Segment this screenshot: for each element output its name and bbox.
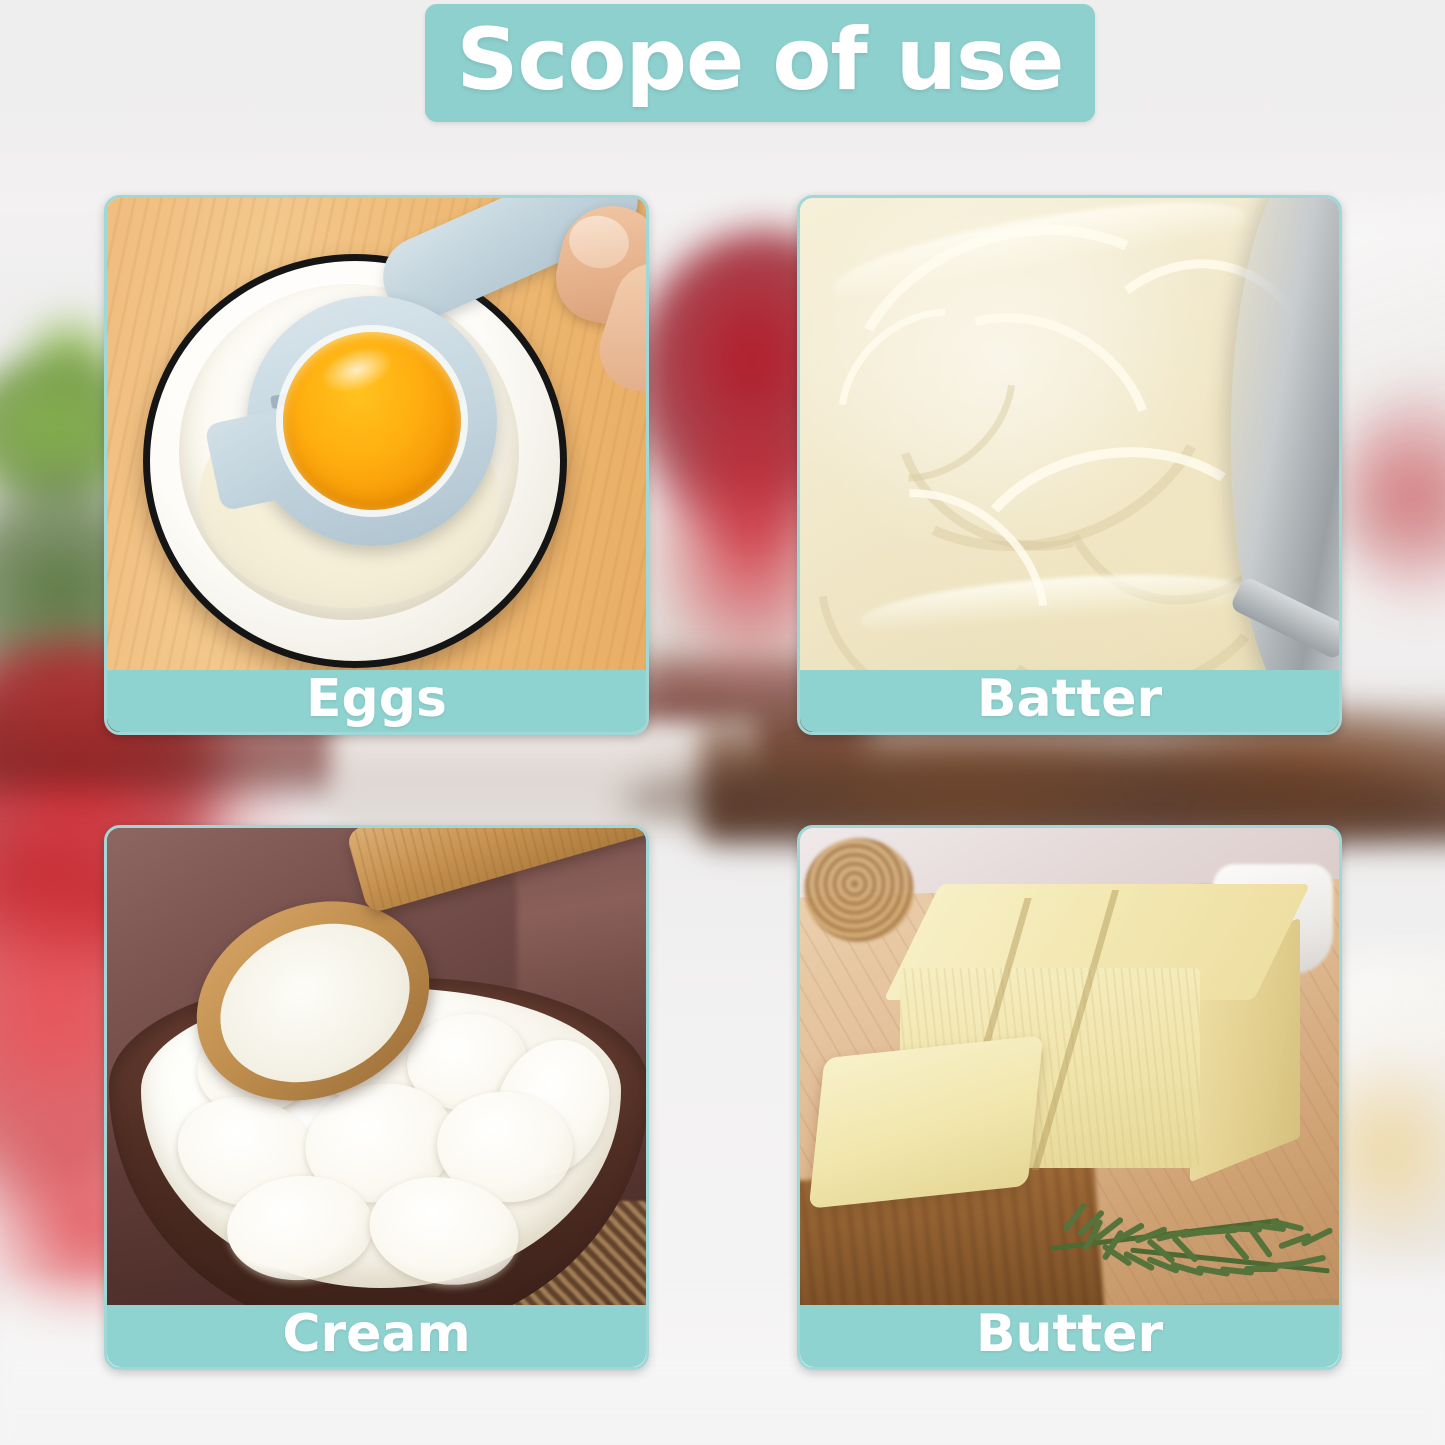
scope-card-batter: Batter: [797, 195, 1342, 735]
batter-label-band: Batter: [800, 670, 1339, 732]
eggs-label-text: Eggs: [306, 673, 447, 729]
scope-card-eggs: Eggs: [104, 195, 649, 735]
eggs-photo: [107, 198, 646, 676]
title-banner: Scope of use: [425, 4, 1095, 122]
cream-label-text: Cream: [282, 1308, 470, 1364]
page-title: Scope of use: [456, 17, 1063, 109]
butter-photo: [800, 828, 1339, 1311]
batter-label-text: Batter: [977, 673, 1162, 729]
scope-card-butter: Butter: [797, 825, 1342, 1370]
butter-label-text: Butter: [976, 1308, 1163, 1364]
cream-photo: [107, 828, 646, 1311]
butter-slice: [809, 1035, 1044, 1208]
scope-card-cream: Cream: [104, 825, 649, 1370]
infographic-canvas: Scope of use Eggs: [0, 0, 1445, 1445]
butter-label-band: Butter: [800, 1305, 1339, 1367]
twine-ball: [804, 838, 914, 942]
eggs-label-band: Eggs: [107, 670, 646, 732]
cream-label-band: Cream: [107, 1305, 646, 1367]
batter-photo: [800, 198, 1339, 676]
